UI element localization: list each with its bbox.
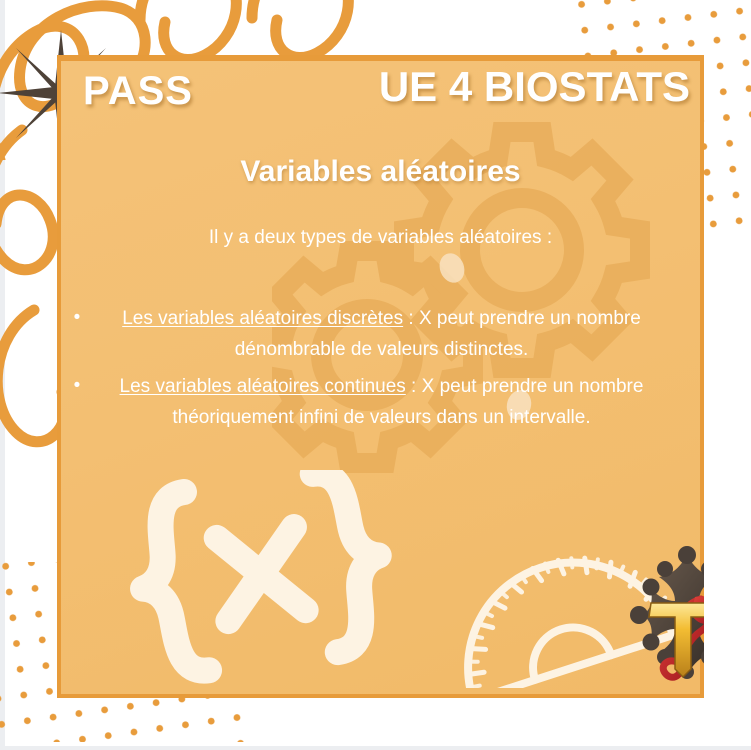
page-edge-bottom xyxy=(0,746,751,750)
intro-text: Il y a deux types de variables aléatoire… xyxy=(57,227,704,249)
course-label: UE 4 BIOSTATS xyxy=(379,63,690,111)
bullet-text: Les variables aléatoires continues : X p… xyxy=(89,371,696,433)
card-content: PASS UE 4 BIOSTATS Variables aléatoires … xyxy=(57,55,704,698)
brand-label: PASS xyxy=(83,69,193,114)
bullet-text: Les variables aléatoires discrètes : X p… xyxy=(89,303,696,365)
page-edge-left xyxy=(0,0,5,750)
bullet-term: Les variables aléatoires continues xyxy=(120,376,406,397)
bullet-term: Les variables aléatoires discrètes xyxy=(122,308,403,329)
bullet-list: • Les variables aléatoires discrètes : X… xyxy=(65,303,696,439)
slide-canvas: PASS UE 4 BIOSTATS Variables aléatoires … xyxy=(0,0,751,750)
list-item: • Les variables aléatoires discrètes : X… xyxy=(65,303,696,365)
list-item: • Les variables aléatoires continues : X… xyxy=(65,371,696,433)
bullet-marker: • xyxy=(65,371,89,401)
page-title: Variables aléatoires xyxy=(57,155,704,189)
bullet-marker: • xyxy=(65,303,89,333)
content-card: PASS UE 4 BIOSTATS Variables aléatoires … xyxy=(57,55,704,698)
